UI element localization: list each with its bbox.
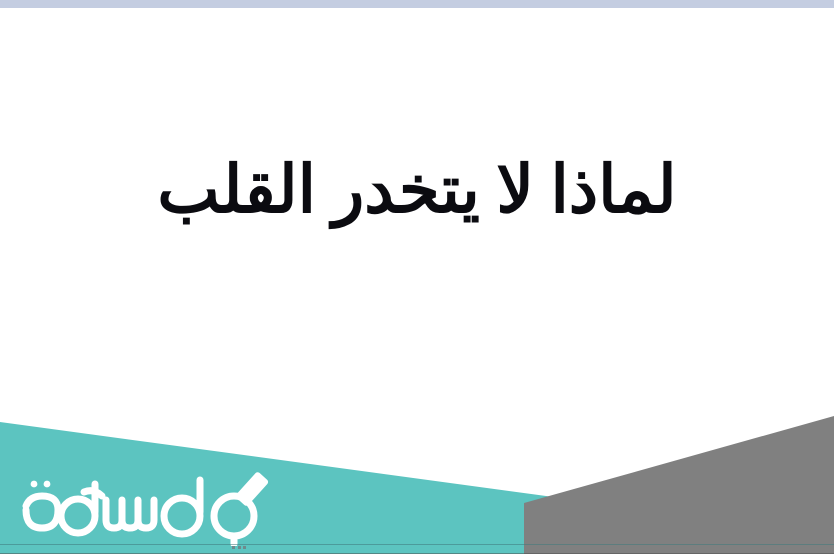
- three-dot-marker: [232, 546, 246, 551]
- top-accent-strip: [0, 0, 834, 8]
- slide-canvas: لماذا لا يتخدر القلب: [0, 0, 834, 554]
- site-logo[interactable]: موسوعة: [16, 466, 276, 546]
- dot-3: [232, 546, 235, 549]
- dot-1: [243, 546, 246, 549]
- ta-marbuta-dot-right: [44, 481, 51, 488]
- ta-marbuta-dot-left: [31, 481, 38, 488]
- dot-2: [238, 546, 241, 549]
- page-title: لماذا لا يتخدر القلب: [157, 150, 676, 233]
- footer-divider: [0, 544, 834, 545]
- logo-artwork: [16, 466, 276, 546]
- headline-container: لماذا لا يتخدر القلب: [0, 150, 834, 233]
